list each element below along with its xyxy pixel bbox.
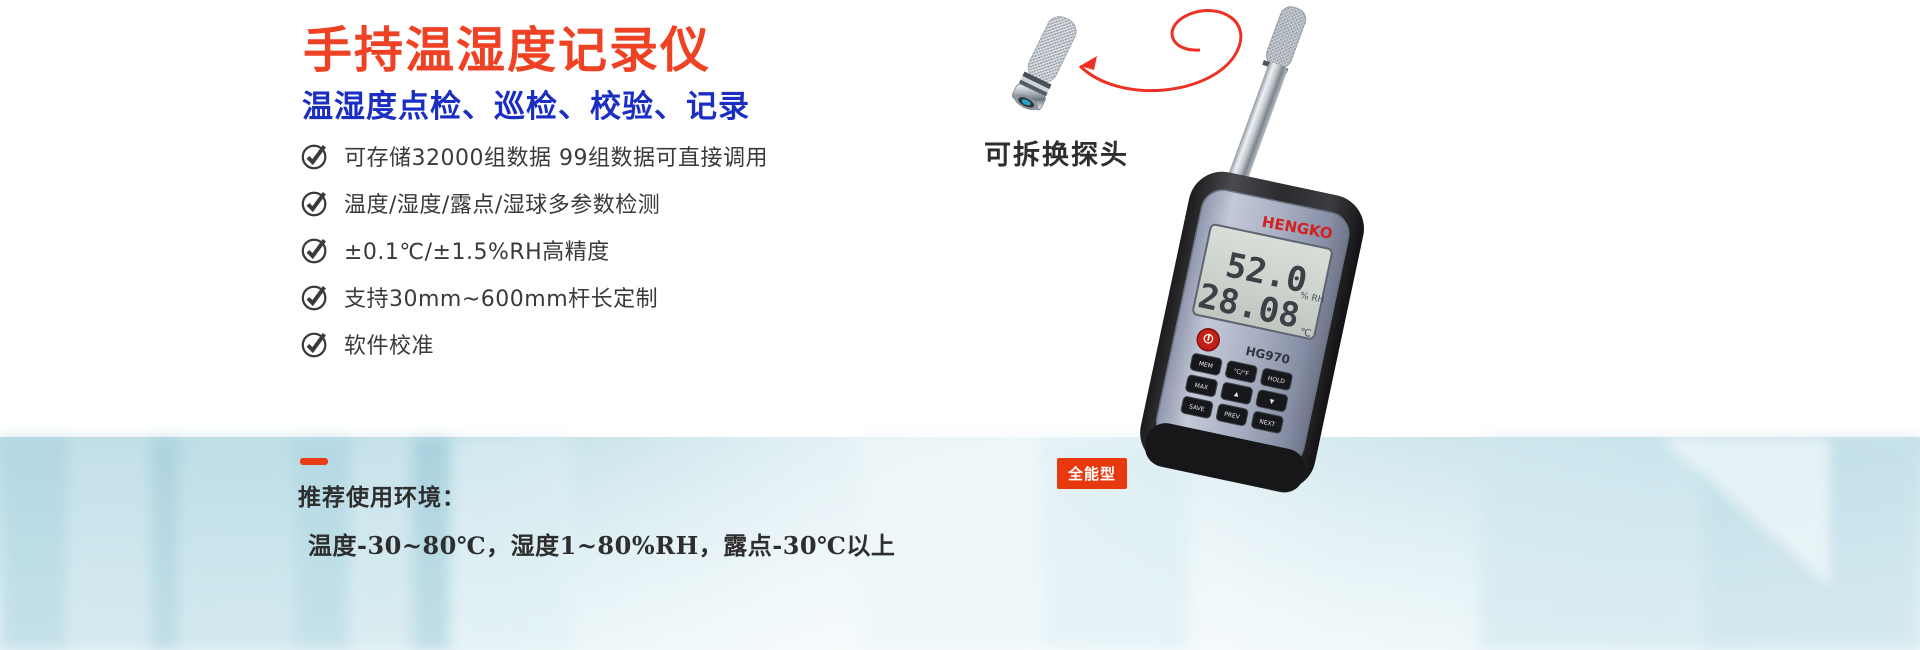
check-circle-icon xyxy=(300,329,330,359)
page-subtitle: 温湿度点检、巡检、校验、记录 xyxy=(302,81,750,126)
list-item-label: 软件校准 xyxy=(344,328,434,360)
check-circle-icon xyxy=(300,235,330,265)
recommend-heading: 推荐使用环境： xyxy=(298,478,895,512)
list-item: 可存储32000组数据 99组数据可直接调用 xyxy=(300,132,768,179)
list-item-label: 支持30mm~600mm杆长定制 xyxy=(344,281,658,313)
page-title: 手持温湿度记录仪 xyxy=(303,11,711,82)
check-circle-icon xyxy=(300,141,330,171)
product-banner: 手持温湿度记录仪 温湿度点检、巡检、校验、记录 可存储32000组数据 99组数… xyxy=(0,0,1920,650)
list-item-label: 温度/湿度/露点/湿球多参数检测 xyxy=(344,187,660,219)
list-item: 支持30mm~600mm杆长定制 xyxy=(300,273,768,320)
feature-list: 可存储32000组数据 99组数据可直接调用 温度/湿度/露点/湿球多参数检测 … xyxy=(300,132,768,367)
list-item: 温度/湿度/露点/湿球多参数检测 xyxy=(300,179,768,226)
list-item-label: ±0.1℃/±1.5%RH高精度 xyxy=(344,234,610,266)
check-circle-icon xyxy=(300,188,330,218)
recommended-environment: 推荐使用环境： 温度-30~80℃，湿度1~80%RH，露点-30℃以上 xyxy=(298,478,895,561)
list-item: ±0.1℃/±1.5%RH高精度 xyxy=(300,226,768,273)
status-badge: 全能型 xyxy=(1057,458,1127,489)
check-circle-icon xyxy=(300,282,330,312)
recommend-detail: 温度-30~80℃，湿度1~80%RH，露点-30℃以上 xyxy=(298,526,895,561)
list-item-label: 可存储32000组数据 99组数据可直接调用 xyxy=(344,140,768,172)
list-item: 软件校准 xyxy=(300,320,768,367)
red-divider-dash xyxy=(300,458,328,465)
product-device-image: HENGKO 52.0 % RH 28.08 ℃ HG970 xyxy=(1040,0,1460,650)
lcd-temperature-unit: ℃ xyxy=(1299,327,1312,340)
